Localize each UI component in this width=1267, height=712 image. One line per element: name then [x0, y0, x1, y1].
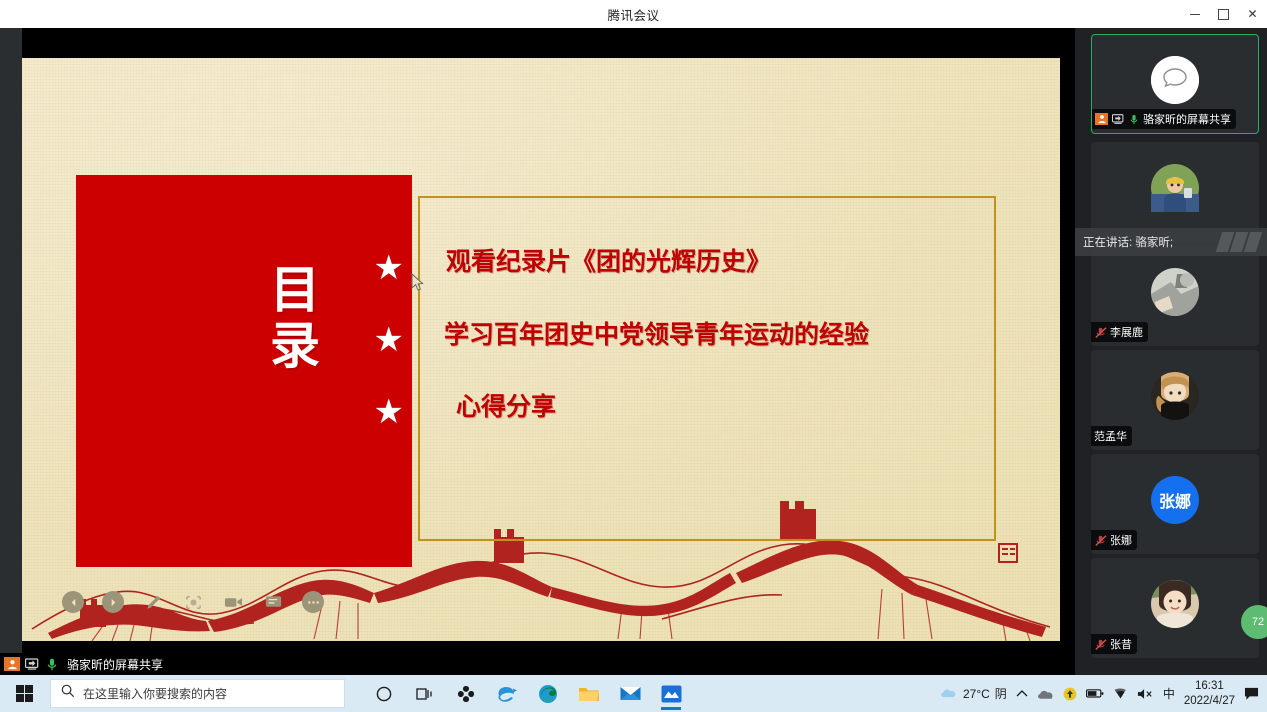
- weather-temp: 27°C: [963, 687, 990, 701]
- participant-name: 张昔: [1110, 636, 1132, 652]
- search-icon: [61, 684, 75, 703]
- avatar: [1151, 580, 1199, 628]
- battery-icon[interactable]: [1086, 688, 1104, 699]
- person-icon: [4, 657, 20, 671]
- participant-tile[interactable]: 张娜 张娜: [1091, 454, 1259, 554]
- star-icon: ★: [374, 251, 404, 285]
- mic-muted-icon: [1094, 534, 1107, 546]
- app-pinwheel-icon[interactable]: [451, 677, 481, 710]
- agenda-item: 学习百年团史中党领导青年运动的经验: [444, 321, 1046, 349]
- participant-name-badge: 张昔: [1091, 634, 1137, 654]
- presentation-toolbar[interactable]: [62, 591, 324, 613]
- cortana-icon[interactable]: [369, 677, 399, 710]
- windows-taskbar[interactable]: 在这里输入你要搜索的内容: [0, 675, 1267, 712]
- participant-name: 骆家昕的屏幕共享: [1143, 111, 1231, 127]
- spotlight-icon[interactable]: [182, 591, 204, 613]
- star-icon: ★: [374, 395, 404, 429]
- agenda-item: 心得分享: [456, 393, 1046, 421]
- shared-screen-stage[interactable]: 目录 ★ ★ ★ 观看纪录片《团的光辉历史》 学习百年团史中党领导青年运动的经验…: [0, 28, 1075, 653]
- screen-share-status-text: 骆家昕的屏幕共享: [67, 656, 163, 673]
- screen-share-icon: [1111, 113, 1124, 125]
- screen-share-icon: [24, 657, 40, 671]
- action-center-icon[interactable]: [1244, 687, 1259, 701]
- file-explorer-icon[interactable]: [574, 677, 604, 710]
- avatar-initials: 张娜: [1159, 488, 1191, 512]
- participant-name: 李展鹿: [1110, 324, 1143, 340]
- update-icon[interactable]: [1063, 687, 1077, 701]
- clock-time: 16:31: [1184, 679, 1235, 693]
- mic-muted-icon: [1094, 638, 1107, 650]
- mouse-cursor-icon: [411, 273, 424, 292]
- onedrive-icon[interactable]: [1037, 688, 1054, 700]
- tencent-meeting-icon[interactable]: [656, 677, 686, 710]
- microsoft-edge-icon[interactable]: [533, 677, 563, 710]
- participant-tile[interactable]: 范孟华: [1091, 350, 1259, 450]
- weather-widget[interactable]: 27°C 阴: [939, 685, 1007, 702]
- section-title: 目录: [246, 263, 318, 375]
- chevron-up-icon[interactable]: [1016, 689, 1028, 698]
- avatar: [1151, 268, 1199, 316]
- stage-left-strip: [0, 28, 22, 653]
- slide-agenda-list: 观看纪录片《团的光辉历史》 学习百年团史中党领导青年运动的经验 心得分享: [446, 248, 1046, 466]
- internet-explorer-icon[interactable]: [492, 677, 522, 710]
- participants-rail[interactable]: 骆家昕的屏幕共享: [1075, 28, 1267, 675]
- participant-count-badge[interactable]: 72: [1241, 605, 1267, 639]
- clock-date: 2022/4/27: [1184, 694, 1235, 708]
- mail-icon[interactable]: [615, 677, 645, 710]
- participant-name: 范孟华: [1094, 428, 1127, 444]
- microphone-icon: [44, 657, 60, 671]
- record-video-icon[interactable]: [222, 591, 244, 613]
- participant-tile[interactable]: [1091, 142, 1259, 242]
- participant-tile[interactable]: 李展鹿: [1091, 246, 1259, 346]
- avatar: [1151, 56, 1199, 104]
- speaking-text: 正在讲话: 骆家昕;: [1083, 234, 1173, 250]
- search-placeholder: 在这里输入你要搜索的内容: [83, 685, 227, 702]
- volume-muted-icon[interactable]: [1137, 688, 1154, 700]
- search-input[interactable]: 在这里输入你要搜索的内容: [50, 679, 345, 708]
- task-view-icon[interactable]: [410, 677, 440, 710]
- participant-name-badge: 骆家昕的屏幕共享: [1092, 109, 1236, 129]
- mic-muted-icon: [1094, 326, 1107, 338]
- system-tray[interactable]: 27°C 阴 中 16:31 202: [939, 675, 1267, 712]
- windows-logo-icon: [16, 685, 33, 702]
- minimize-button[interactable]: [1180, 0, 1209, 28]
- weather-desc: 阴: [995, 685, 1007, 702]
- speaking-banner: 正在讲话: 骆家昕;: [1075, 228, 1267, 256]
- close-icon[interactable]: ✕: [1238, 0, 1267, 28]
- presentation-slide: 目录 ★ ★ ★ 观看纪录片《团的光辉历史》 学习百年团史中党领导青年运动的经验…: [22, 58, 1060, 641]
- red-seal-stamp: [998, 543, 1018, 563]
- wifi-icon[interactable]: [1113, 688, 1128, 700]
- more-options-icon[interactable]: [302, 591, 324, 613]
- participant-tile-screen-share[interactable]: 骆家昕的屏幕共享: [1091, 34, 1259, 134]
- star-list: ★ ★ ★: [374, 251, 404, 429]
- participant-name: 张娜: [1110, 532, 1132, 548]
- window-controls: ✕: [1180, 0, 1267, 28]
- avatar: 张娜: [1151, 476, 1199, 524]
- avatar: [1151, 372, 1199, 420]
- participant-name-badge: 张娜: [1091, 530, 1137, 550]
- start-button[interactable]: [0, 675, 48, 712]
- ime-indicator[interactable]: 中: [1163, 685, 1175, 702]
- participant-name-badge: 李展鹿: [1091, 322, 1148, 342]
- screen-share-status-bar: 骆家昕的屏幕共享: [0, 653, 1075, 675]
- clock[interactable]: 16:31 2022/4/27: [1184, 679, 1235, 707]
- previous-slide-icon[interactable]: [62, 591, 84, 613]
- subtitles-icon[interactable]: [262, 591, 284, 613]
- taskbar-app-icons[interactable]: [369, 677, 686, 710]
- avatar: [1151, 164, 1199, 212]
- section-red-panel: 目录 ★ ★ ★: [76, 175, 412, 567]
- window-title: 腾讯会议: [607, 5, 659, 24]
- star-icon: ★: [374, 323, 404, 357]
- microphone-icon: [1127, 113, 1140, 125]
- tencent-meeting-window: 腾讯会议 ✕: [0, 0, 1267, 712]
- maximize-button[interactable]: [1209, 0, 1238, 28]
- participant-tile[interactable]: 张昔: [1091, 558, 1259, 658]
- next-slide-icon[interactable]: [102, 591, 124, 613]
- agenda-item: 观看纪录片《团的光辉历史》: [446, 248, 1046, 276]
- person-icon: [1095, 113, 1108, 125]
- cloud-icon: [939, 686, 958, 702]
- stage-top-band: [22, 28, 1075, 58]
- participant-name-badge: 范孟华: [1091, 426, 1132, 446]
- pen-annotate-icon[interactable]: [142, 591, 164, 613]
- audio-wave-icon: [1219, 232, 1259, 252]
- window-title-bar: 腾讯会议 ✕: [0, 0, 1267, 28]
